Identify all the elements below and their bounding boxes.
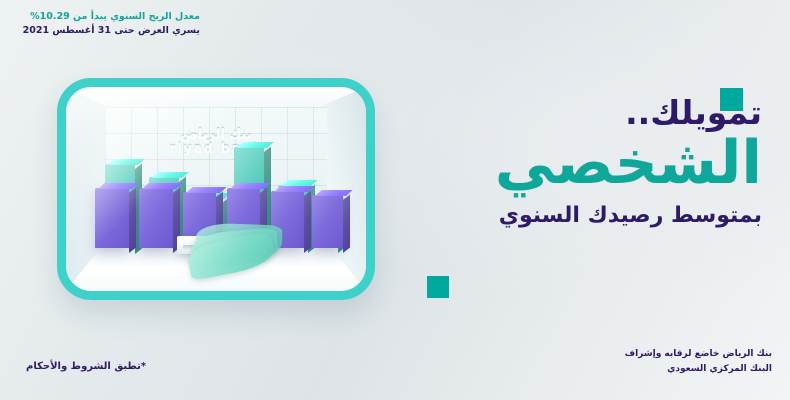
regulatory-disclosure: بنك الرياض خاضع لرقابه وإشراف البنك المر…	[625, 347, 772, 376]
headline-subtitle: بمتوسط رصيدك السنوي	[432, 203, 762, 229]
headline-line-1: تمويلك..	[432, 96, 762, 131]
three-d-chart-scene: بنك الرياض riyad bank	[57, 78, 375, 300]
dispensed-banknotes	[186, 223, 282, 279]
decorative-square-bottom	[427, 276, 449, 298]
room-interior: بنك الرياض riyad bank	[66, 87, 366, 291]
rounded-teal-frame: بنك الرياض riyad bank	[57, 78, 375, 300]
headline-block: تمويلك.. الشخصي بمتوسط رصيدك السنوي	[432, 96, 762, 229]
regulator-line-1: بنك الرياض خاضع لرقابه وإشراف	[625, 347, 772, 361]
offer-validity-text: يسري العرض حتى 31 أغسطس 2021	[23, 24, 200, 38]
regulator-line-2: البنك المركزي السعودي	[625, 362, 772, 376]
annual-profit-rate-text: معدل الربح السنوي يبدأ من 10.29%	[23, 10, 200, 24]
advertisement-banner: معدل الربح السنوي يبدأ من 10.29% يسري ال…	[0, 0, 790, 400]
chart-bar-purple	[95, 188, 129, 248]
chart-bar-purple	[139, 188, 173, 248]
chart-bar-purple	[312, 195, 343, 248]
promo-terms-block: معدل الربح السنوي يبدأ من 10.29% يسري ال…	[23, 10, 200, 38]
terms-and-conditions-note: *تطبق الشروط والأحكام	[26, 361, 146, 372]
headline-line-2: الشخصي	[432, 133, 762, 193]
